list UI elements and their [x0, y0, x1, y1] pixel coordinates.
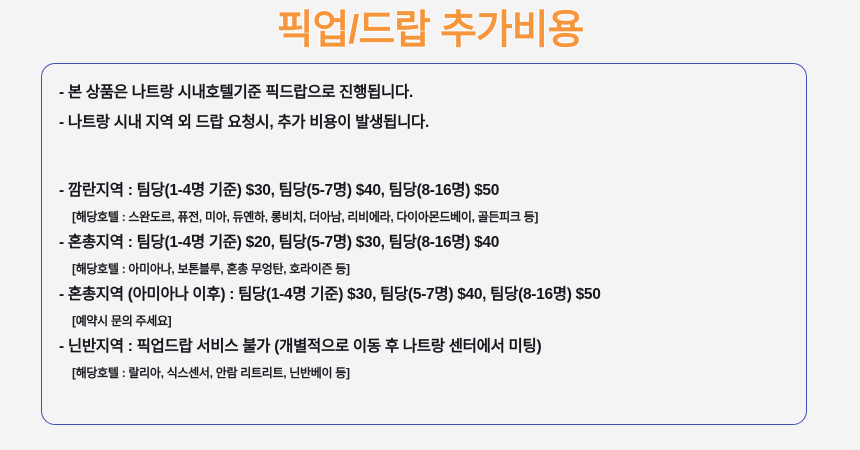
note-line: - 나트랑 시내 지역 외 드랍 요청시, 추가 비용이 발생됩니다.: [59, 108, 796, 138]
info-box-content: - 본 상품은 나트랑 시내호텔기준 픽드랍으로 진행됩니다. - 나트랑 시내…: [59, 78, 796, 384]
blank-line-spacer: [59, 168, 796, 176]
info-box: - 본 상품은 나트랑 시내호텔기준 픽드랍으로 진행됩니다. - 나트랑 시내…: [41, 63, 807, 425]
region-hotel-line: [해당호텔 : 랄리아, 식스센서, 안람 리트리트, 닌반베이 등]: [59, 362, 796, 384]
region-block: - 혼총지역 : 팀당(1-4명 기준) $20, 팀당(5-7명) $30, …: [59, 228, 796, 280]
blank-line-spacer: [59, 138, 796, 168]
region-price-line: - 깜란지역 : 팀당(1-4명 기준) $30, 팀당(5-7명) $40, …: [59, 176, 796, 206]
page-title-text: 픽업/드랍 추가비용: [277, 10, 584, 50]
page-title: 픽업/드랍 추가비용: [0, 0, 860, 60]
page-root: 픽업/드랍 추가비용 - 본 상품은 나트랑 시내호텔기준 픽드랍으로 진행됩니…: [0, 0, 860, 450]
region-price-line: - 닌반지역 : 픽업드랍 서비스 불가 (개별적으로 이동 후 나트랑 센터에…: [59, 332, 796, 362]
region-hotel-line: [해당호텔 : 스완도르, 퓨전, 미아, 듀옌하, 롱비치, 더아남, 리비에…: [59, 206, 796, 228]
region-block: - 깜란지역 : 팀당(1-4명 기준) $30, 팀당(5-7명) $40, …: [59, 176, 796, 228]
region-price-line: - 혼총지역 (아미아나 이후) : 팀당(1-4명 기준) $30, 팀당(5…: [59, 280, 796, 310]
note-line: - 본 상품은 나트랑 시내호텔기준 픽드랍으로 진행됩니다.: [59, 78, 796, 108]
region-price-line: - 혼총지역 : 팀당(1-4명 기준) $20, 팀당(5-7명) $30, …: [59, 228, 796, 258]
region-hotel-line: [예약시 문의 주세요]: [59, 310, 796, 332]
region-block: - 혼총지역 (아미아나 이후) : 팀당(1-4명 기준) $30, 팀당(5…: [59, 280, 796, 332]
region-block: - 닌반지역 : 픽업드랍 서비스 불가 (개별적으로 이동 후 나트랑 센터에…: [59, 332, 796, 384]
region-hotel-line: [해당호텔 : 아미아나, 보톤블루, 혼총 무엉탄, 호라이즌 등]: [59, 258, 796, 280]
